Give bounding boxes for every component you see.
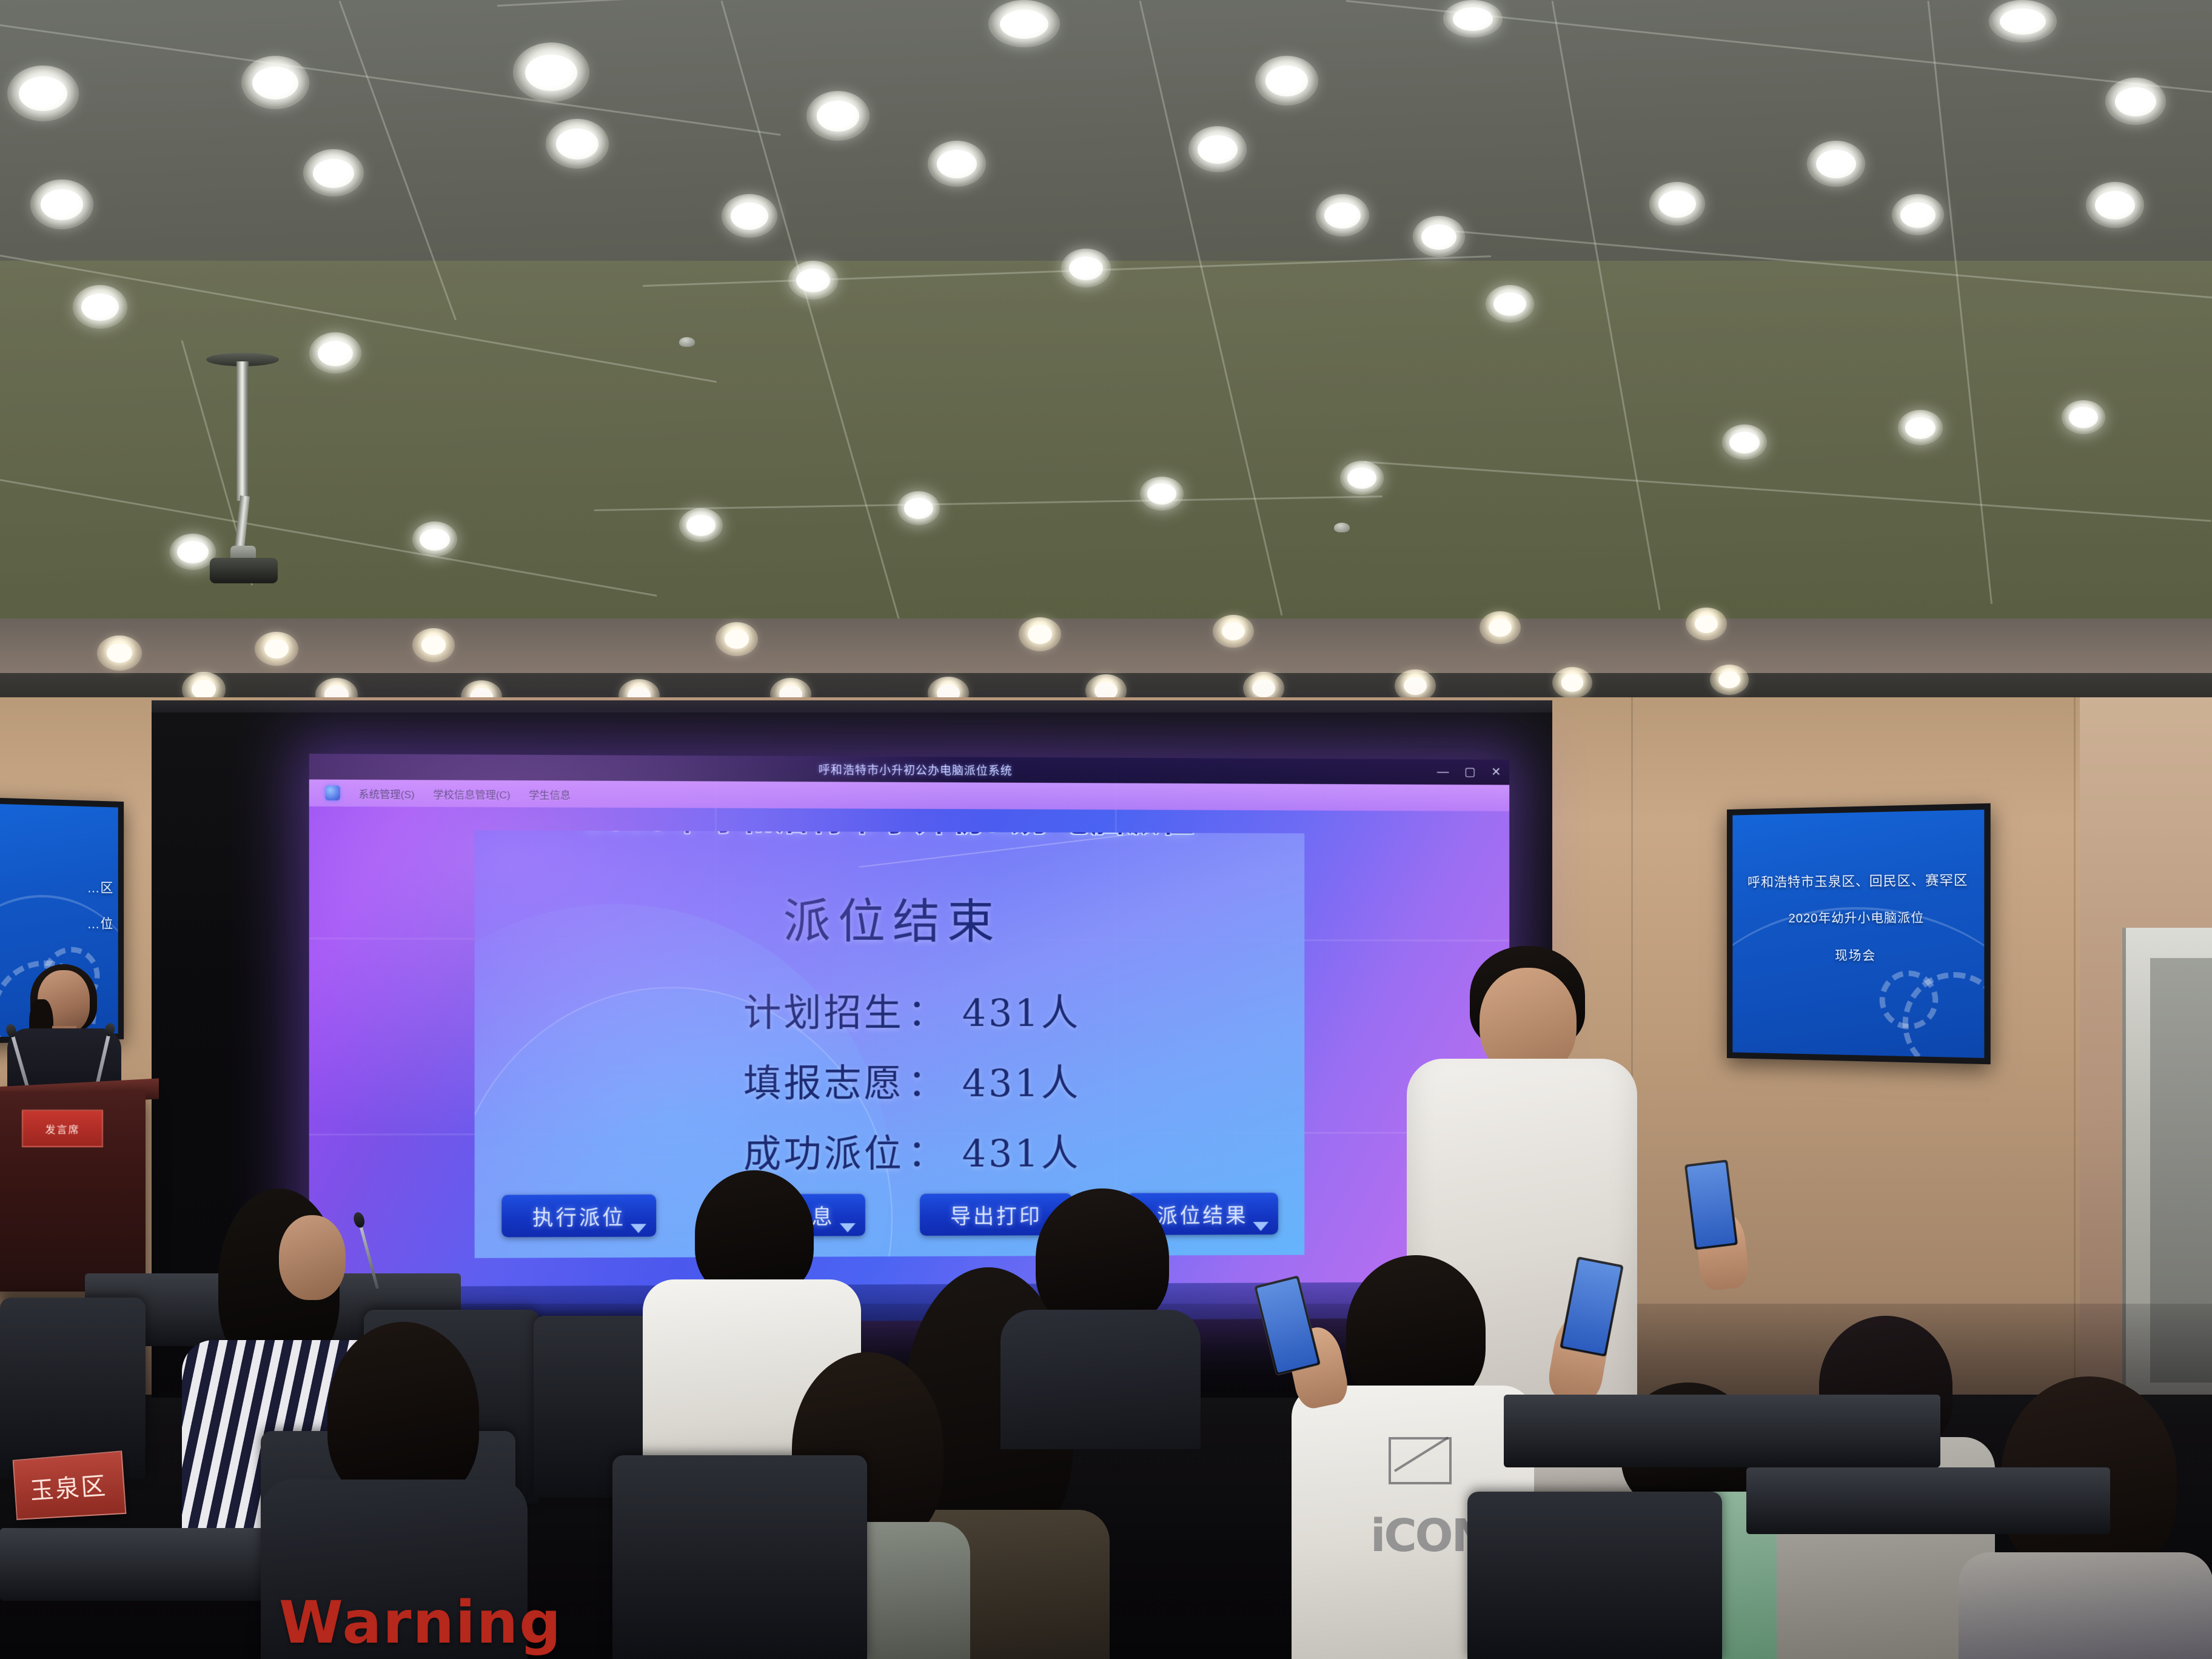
chair-back (1467, 1492, 1722, 1659)
ceiling-downlight (73, 285, 127, 329)
person-torso (1000, 1310, 1201, 1449)
podium-nameplate: 发言席 (22, 1110, 103, 1147)
ceiling-downlight (1443, 0, 1503, 38)
stat-colon: ： (904, 982, 951, 1037)
minimize-icon[interactable]: — (1437, 766, 1449, 778)
person-torso (1959, 1552, 2212, 1659)
ceiling-downlight (1061, 249, 1111, 287)
ceiling-downlight (1316, 194, 1369, 236)
ceiling-downlight (1413, 216, 1465, 257)
right-monitor-line1: 呼和浩特市玉泉区、回民区、赛罕区 (1732, 870, 1984, 891)
front-desk (1746, 1467, 2110, 1534)
conference-room-photo: 呼和浩特市小升初公办电脑派位系统 — ▢ ✕ 系统管理(S) 学校信息管理(C)… (0, 0, 2212, 1659)
soffit-spotlight (716, 622, 758, 656)
close-icon[interactable]: ✕ (1491, 766, 1501, 779)
soffit-spotlight (1686, 608, 1727, 640)
sprinkler-head (1334, 523, 1350, 532)
result-stats: 计划招生 ： 431人 填报志愿 ： 431人 成功派位 ： 431人 (475, 982, 1305, 1179)
ceiling-downlight (309, 332, 361, 374)
menu-item-system[interactable]: 系统管理(S) (358, 785, 414, 801)
ceiling-downlight (679, 508, 723, 542)
ceiling-grid-line (0, 24, 781, 136)
ceiling-downlight (303, 149, 364, 196)
ceiling-downlight (412, 521, 457, 557)
soffit-spotlight (255, 632, 298, 666)
ceiling-downlight (2086, 182, 2144, 228)
ceiling-downlight (1340, 461, 1384, 495)
window-controls[interactable]: — ▢ ✕ (1437, 759, 1501, 785)
stat-label-planned: 计划招生 (703, 982, 904, 1037)
ceiling (0, 0, 2212, 716)
district-nameplate: 玉泉区 (13, 1450, 127, 1520)
ceiling-downlight (1898, 410, 1943, 445)
ceiling-downlight (1140, 477, 1184, 511)
right-wall-monitor: 呼和浩特市玉泉区、回民区、赛罕区 2020年幼升小电脑派位 现场会 (1727, 803, 1991, 1065)
chevron-down-icon[interactable] (1253, 1222, 1269, 1231)
ceiling-downlight (7, 65, 79, 121)
ceiling-downlight (1892, 194, 1944, 235)
banner-title: 2020年呼和浩特市小升初公办电脑派位 (586, 830, 1196, 841)
person-hair (1346, 1255, 1486, 1407)
shirt-warning-text: Warning (279, 1589, 562, 1657)
gear-icon (1880, 970, 1939, 1030)
ceiling-downlight (1255, 56, 1318, 106)
stat-colon: ： (904, 1053, 951, 1107)
soffit-spotlight (412, 628, 455, 662)
person-hair (327, 1322, 479, 1504)
stat-colon: ： (904, 1123, 951, 1178)
audience-person-centre-right (1000, 1188, 1201, 1443)
ceiling-downlight (788, 261, 838, 300)
stat-row: 计划招生 ： 431人 (703, 982, 1081, 1037)
ceiling-downlight (170, 534, 216, 570)
front-desk (1504, 1395, 1940, 1467)
shirt-graphic-icon (1389, 1437, 1452, 1484)
person-head (279, 1215, 346, 1300)
stat-value-applied: 431人 (951, 1053, 1081, 1107)
person-hair (1036, 1188, 1169, 1328)
ceiling-downlight (1807, 141, 1865, 187)
right-monitor-line3: 现场会 (1732, 946, 1984, 965)
soffit-spotlight (1480, 611, 1521, 644)
app-window-title: 呼和浩特市小升初公办电脑派位系统 (819, 761, 1013, 779)
menu-item-school-info[interactable]: 学校信息管理(C) (433, 786, 511, 802)
soffit-spotlight (97, 635, 142, 671)
projector-pole (236, 361, 249, 501)
ceiling-downlight (2105, 78, 2166, 125)
soffit-spotlight (1710, 665, 1749, 695)
soffit-spotlight (1552, 667, 1592, 699)
soffit-spotlight (1213, 615, 1254, 648)
person-hair (695, 1170, 814, 1298)
left-monitor-line2: …位 (0, 913, 118, 933)
chair-back (612, 1455, 867, 1659)
ceiling-downlight (1989, 0, 2057, 42)
ceiling-grid-line (497, 0, 1406, 7)
ceiling-downlight (513, 42, 589, 102)
front-desk (0, 1528, 291, 1601)
chair-back (0, 1298, 146, 1480)
slide-banner: 2020年呼和浩特市小升初公办电脑派位 (475, 830, 1305, 854)
ceiling-downlight (546, 119, 609, 169)
ceiling-downlight (30, 179, 93, 229)
ceiling-downlight (241, 56, 309, 109)
stat-row: 填报志愿 ： 431人 (703, 1053, 1081, 1107)
stat-value-planned: 431人 (951, 982, 1081, 1037)
ceiling-downlight (988, 0, 1060, 47)
ceiling-downlight (1486, 285, 1534, 323)
menu-item-student-info[interactable]: 学生信息 (529, 786, 571, 802)
ceiling-downlight (1188, 126, 1247, 172)
wall-seam (2074, 697, 2076, 1395)
result-heading: 派位结束 (475, 883, 1305, 953)
app-logo-icon (325, 786, 340, 800)
maximize-icon[interactable]: ▢ (1464, 766, 1476, 778)
run-lottery-label: 执行派位 (532, 1201, 626, 1231)
ceiling-downlight (2062, 400, 2105, 434)
ceiling-downlight (806, 91, 870, 141)
ceiling-downlight (1649, 182, 1705, 226)
right-monitor-screen: 呼和浩特市玉泉区、回民区、赛罕区 2020年幼升小电脑派位 现场会 (1732, 809, 1984, 1058)
right-monitor-line2: 2020年幼升小电脑派位 (1732, 908, 1984, 927)
ceiling-downlight (722, 194, 777, 238)
ceiling-downlight (928, 141, 986, 187)
led-display-wall: 呼和浩特市小升初公办电脑派位系统 — ▢ ✕ 系统管理(S) 学校信息管理(C)… (309, 754, 1509, 1324)
ceiling-downlight (897, 491, 940, 525)
soffit-spotlight (1019, 617, 1061, 651)
stat-value-assigned: 431人 (951, 1123, 1081, 1178)
projector-body (210, 558, 278, 583)
ceiling-downlight (1722, 424, 1767, 460)
app-menu-bar: 系统管理(S) 学校信息管理(C) 学生信息 (309, 779, 1509, 811)
stat-label-applied: 填报志愿 (703, 1053, 904, 1107)
left-monitor-line1: …区 (0, 876, 118, 897)
run-lottery-button[interactable]: 执行派位 (501, 1194, 656, 1237)
sprinkler-head (679, 337, 695, 347)
